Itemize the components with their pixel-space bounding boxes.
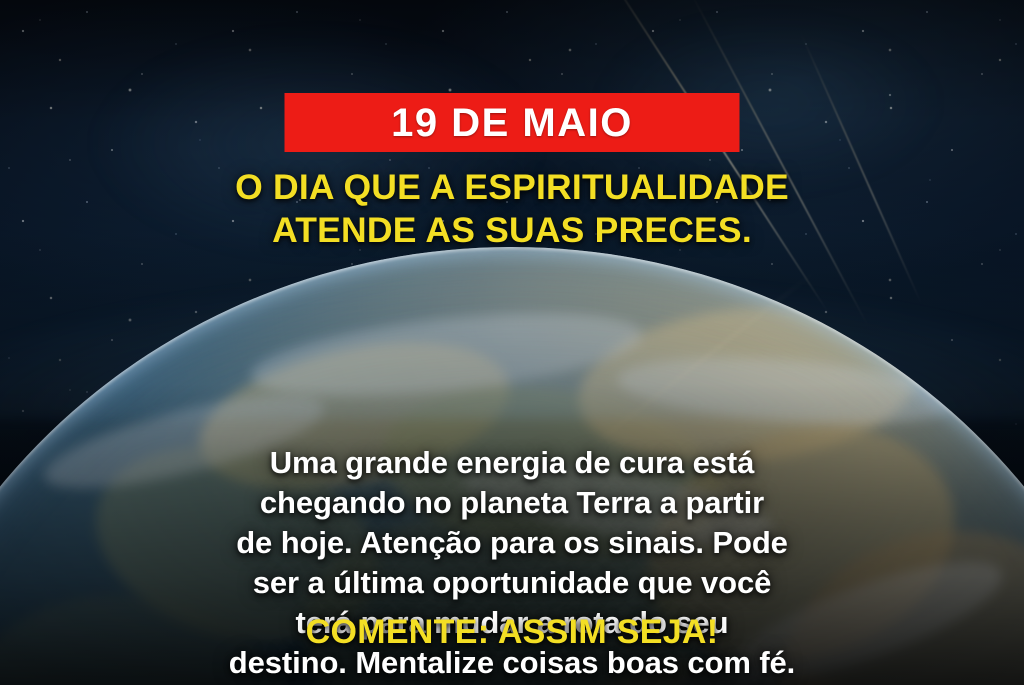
headline-line-2: ATENDE AS SUAS PRECES. bbox=[0, 209, 1024, 252]
body-line-4: ser a última oportunidade que você bbox=[0, 563, 1024, 603]
spiritual-announcement-poster: 19 DE MAIO O DIA QUE A ESPIRITUALIDADE A… bbox=[0, 0, 1024, 685]
headline: O DIA QUE A ESPIRITUALIDADE ATENDE AS SU… bbox=[0, 166, 1024, 251]
call-to-action-text: COMENTE: ASSIM SEJA! bbox=[0, 613, 1024, 652]
body-line-2: chegando no planeta Terra a partir bbox=[0, 483, 1024, 523]
date-banner: 19 DE MAIO bbox=[285, 93, 740, 152]
body-line-3: de hoje. Atenção para os sinais. Pode bbox=[0, 523, 1024, 563]
poster-content: 19 DE MAIO O DIA QUE A ESPIRITUALIDADE A… bbox=[0, 0, 1024, 685]
date-banner-label: 19 DE MAIO bbox=[391, 103, 633, 143]
headline-line-1: O DIA QUE A ESPIRITUALIDADE bbox=[0, 166, 1024, 209]
body-line-1: Uma grande energia de cura está bbox=[0, 443, 1024, 483]
